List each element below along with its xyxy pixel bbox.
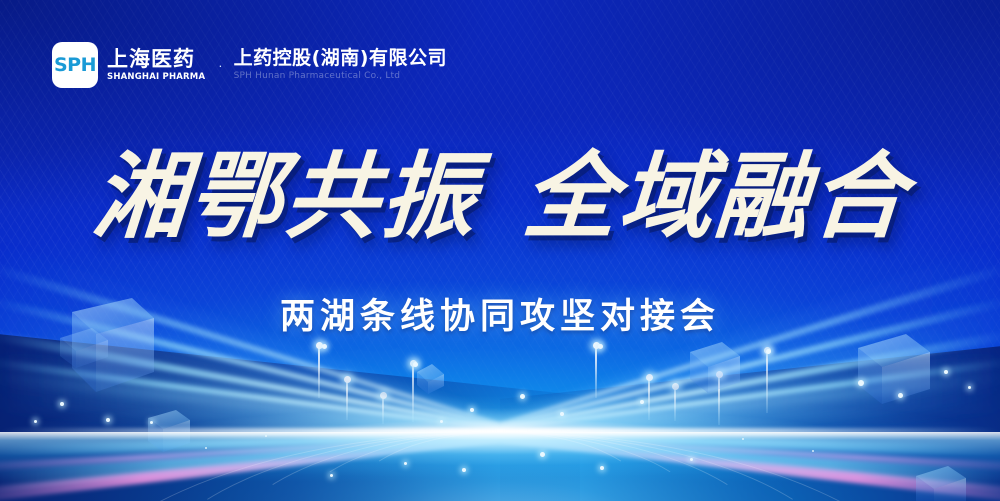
- subtitle-container: 两湖条线协同攻坚对接会: [0, 288, 1000, 339]
- light-pole: [318, 346, 320, 398]
- brand-logo-lockup: SPH 上海医药 SHANGHAI PHARMA · 上药控股(湖南)有限公司 …: [52, 41, 447, 89]
- sph-logo-icon: SPH: [52, 42, 98, 88]
- company-name-cn: 上海医药: [107, 49, 205, 70]
- subsidiary-name-block: 上药控股(湖南)有限公司 SPH Hunan Pharmaceutical Co…: [234, 49, 447, 81]
- headline-part-2: 全域融合: [519, 142, 911, 252]
- subtitle: 两湖条线协同攻坚对接会: [280, 288, 720, 339]
- event-banner: SPH 上海医药 SHANGHAI PHARMA · 上药控股(湖南)有限公司 …: [0, 0, 1000, 501]
- headline-part-1: 湘鄂共振: [89, 142, 481, 252]
- light-pole: [595, 346, 597, 398]
- subsidiary-name-cn: 上药控股(湖南)有限公司: [234, 49, 447, 68]
- company-name-block: 上海医药 SHANGHAI PHARMA: [107, 49, 205, 82]
- cube-right-upper: [690, 342, 740, 393]
- company-name-en: SHANGHAI PHARMA: [107, 73, 205, 82]
- brand-separator: ·: [218, 58, 222, 73]
- cube-center-diamond: [417, 364, 444, 394]
- floor-arcs: [0, 430, 1000, 501]
- subsidiary-name-en: SPH Hunan Pharmaceutical Co., Ltd: [234, 72, 447, 81]
- sph-logo-text: SPH: [54, 54, 96, 76]
- headline: 湘鄂共振全域融合: [0, 150, 1000, 246]
